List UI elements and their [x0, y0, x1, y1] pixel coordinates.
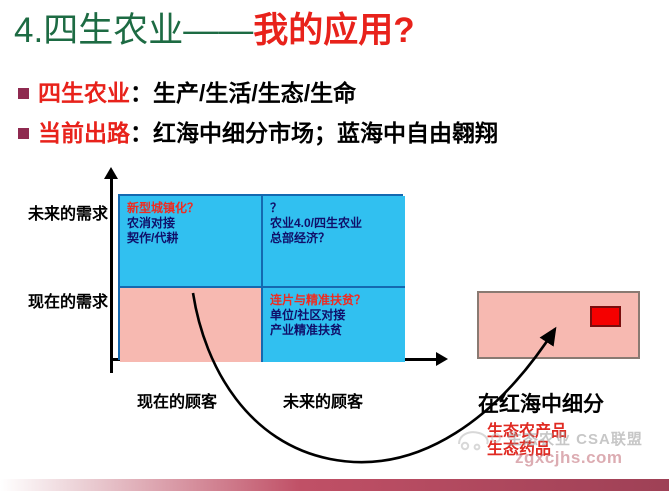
- bullet-item-2: 当前出路：红海中细分市场；蓝海中自由翱翔: [18, 120, 498, 146]
- y-axis-label-future: 未来的需求: [28, 205, 108, 225]
- red-sea-box[interactable]: [477, 291, 640, 359]
- red-sea-sub-1: 生态农产品: [487, 423, 669, 441]
- red-sea-niche-chip: [590, 306, 621, 327]
- square-bullet-icon: [18, 88, 29, 99]
- x-axis-label-present: 现在的顾客: [137, 393, 237, 413]
- quadrant-diagram: 未来的需求 现在的需求 现在的顾客 未来的顾客 新型城镇化？ 农消对接 契作/代…: [0, 165, 669, 491]
- square-bullet-icon: [18, 128, 29, 139]
- quadrant-tl-line-1: 农消对接: [127, 216, 255, 231]
- x-axis-arrow-icon: [436, 352, 448, 366]
- quadrant-tl-line-2: 契作/代耕: [127, 231, 255, 246]
- bullet-2-rest: ：红海中细分市场；蓝海中自由翱翔: [130, 120, 498, 146]
- quadrant-br-line-1: 单位/社区对接: [270, 308, 399, 323]
- title-red-text: 我的应用?: [253, 11, 414, 50]
- y-axis-label-present: 现在的需求: [28, 293, 108, 313]
- red-sea-title: 在红海中细分: [478, 393, 668, 417]
- bullet-item-1: 四生农业：生产/生活/生态/生命: [18, 80, 356, 106]
- bottom-gradient-bar: [0, 479, 669, 491]
- y-axis-line: [110, 177, 113, 373]
- bullet-2-highlight: 当前出路: [38, 120, 130, 146]
- quadrant-tr-line-2: 总部经济？: [270, 231, 399, 246]
- x-axis-label-future: 未来的顾客: [283, 393, 383, 413]
- quadrant-br-headline: 连片与精准扶贫？: [270, 293, 399, 308]
- quadrant-bottom-right[interactable]: 连片与精准扶贫？ 单位/社区对接 产业精准扶贫: [263, 288, 405, 362]
- bullet-1-rest: ：生产/生活/生态/生命: [130, 80, 356, 106]
- red-sea-sub-2: 生态药品: [487, 441, 669, 459]
- quadrant-tl-headline: 新型城镇化？: [127, 201, 255, 216]
- quadrant-top-right[interactable]: ？ 农业4.0/四生农业 总部经济？: [263, 196, 405, 288]
- bullet-1-highlight: 四生农业: [38, 80, 130, 106]
- title-number: 4.: [14, 11, 43, 50]
- quadrant-top-left[interactable]: 新型城镇化？ 农消对接 契作/代耕: [120, 196, 263, 288]
- quadrant-br-line-2: 产业精准扶贫: [270, 323, 399, 338]
- quadrant-bottom-left[interactable]: [120, 288, 263, 362]
- title-green-text: 四生农业——: [43, 11, 253, 50]
- y-axis-arrow-icon: [104, 167, 118, 179]
- quadrant-tr-line-1: 农业4.0/四生农业: [270, 216, 399, 231]
- slide-canvas: 4.四生农业——我的应用? 四生农业：生产/生活/生态/生命 当前出路：红海中细…: [0, 0, 669, 491]
- page-title: 4.四生农业——我的应用?: [14, 8, 654, 54]
- quadrant-tr-headline: ？: [270, 201, 399, 216]
- two-by-two-matrix: 新型城镇化？ 农消对接 契作/代耕 ？ 农业4.0/四生农业 总部经济？ 连片与…: [118, 194, 403, 360]
